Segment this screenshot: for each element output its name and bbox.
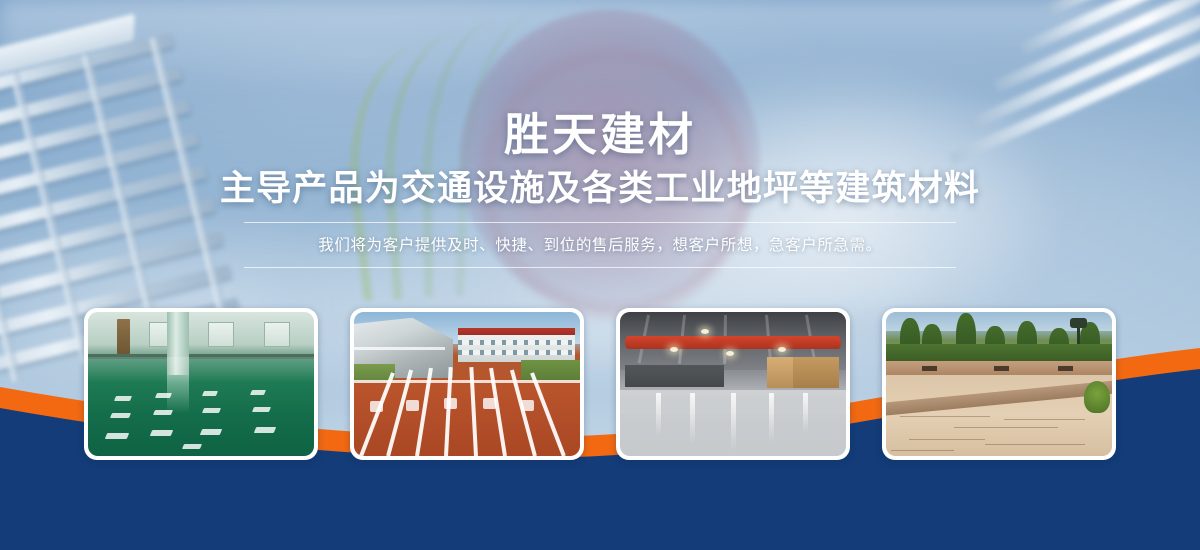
gallery-card-running-track[interactable]: [350, 308, 584, 460]
green-epoxy-floor-image: [88, 312, 314, 456]
hero-banner: 胜天建材 主导产品为交通设施及各类工业地坪等建筑材料 我们将为客户提供及时、快捷…: [0, 0, 1200, 550]
tagline-text: 我们将为客户提供及时、快捷、到位的售后服务，想客户所想，急客户所急需。: [0, 223, 1200, 267]
warehouse-polished-floor-image: [620, 312, 846, 456]
gallery-card-warehouse-floor[interactable]: [616, 308, 850, 460]
tagline-block: 我们将为客户提供及时、快捷、到位的售后服务，想客户所想，急客户所急需。: [0, 222, 1200, 268]
page-subtitle: 主导产品为交通设施及各类工业地坪等建筑材料: [0, 168, 1200, 210]
page-title: 胜天建材: [0, 110, 1200, 160]
gallery-strip: [84, 308, 1116, 460]
banner-copy: 胜天建材 主导产品为交通设施及各类工业地坪等建筑材料 我们将为客户提供及时、快捷…: [0, 0, 1200, 268]
stamped-concrete-plaza-image: [886, 312, 1112, 456]
gallery-card-green-epoxy-floor[interactable]: [84, 308, 318, 460]
gallery-card-stamped-concrete[interactable]: [882, 308, 1116, 460]
divider-bottom: [244, 267, 956, 268]
running-track-image: [354, 312, 580, 456]
